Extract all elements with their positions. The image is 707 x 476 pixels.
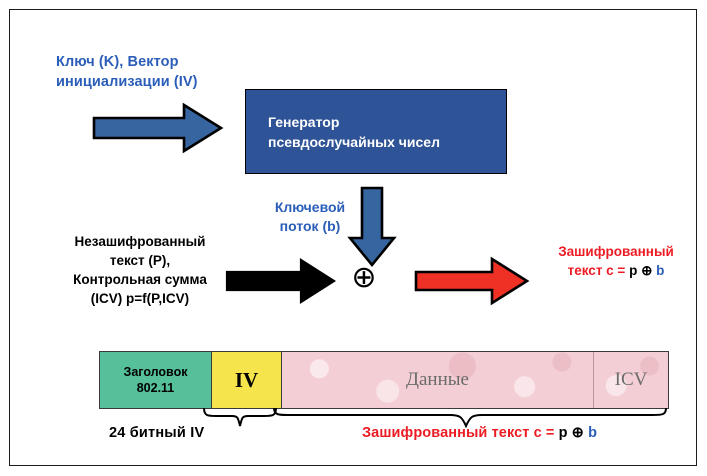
ciphertext-bottom-p: p ⊕ xyxy=(559,425,588,441)
right-arrow-icon xyxy=(92,102,224,154)
packet-field-header-line1: Заголовок xyxy=(124,364,188,380)
ciphertext-bottom-prefix: Зашифрованный текст с = xyxy=(362,425,559,441)
right-arrow-icon xyxy=(225,257,337,305)
iv-bits-label: 24 битный IV xyxy=(109,425,204,441)
plaintext-label-line2: текст (P), xyxy=(50,251,230,270)
right-arrow-icon xyxy=(414,255,530,307)
ciphertext-label-bottom: Зашифрованный текст с = p ⊕ b xyxy=(362,425,597,441)
ciphertext-label-right: Зашифрованный текст с = p ⊕ b xyxy=(528,242,704,280)
ciphertext-label-right-line2: текст с = p ⊕ b xyxy=(528,261,704,280)
packet-field-header-line2: 802.11 xyxy=(124,380,188,396)
plaintext-label-line4: (ICV) p=f(P,ICV) xyxy=(50,289,230,308)
ciphertext-right-p: p ⊕ xyxy=(629,263,656,278)
ciphertext-label-right-line1: Зашифрованный xyxy=(528,242,704,261)
plaintext-label-line3: Контрольная сумма xyxy=(50,270,230,289)
prng-label: Генератор псевдослучайных чисел xyxy=(268,112,440,152)
xor-operator: ⊕ xyxy=(347,262,381,296)
diagram-canvas: Ключ (K), Вектор инициализации (IV) Гене… xyxy=(0,0,707,476)
xor-symbol: ⊕ xyxy=(347,262,381,296)
packet-frame: Заголовок 802.11 IV Данные ICV xyxy=(99,351,669,409)
packet-field-icv: ICV xyxy=(594,352,668,408)
diagram-frame: Ключ (K), Вектор инициализации (IV) Гене… xyxy=(9,9,697,466)
plaintext-label: Незашифрованный текст (P), Контрольная с… xyxy=(50,232,230,308)
ciphertext-right-b: b xyxy=(656,263,664,278)
key-iv-label: Ключ (K), Вектор инициализации (IV) xyxy=(56,52,286,92)
packet-field-data: Данные xyxy=(282,352,594,408)
packet-field-header: Заголовок 802.11 xyxy=(100,352,212,408)
packet-field-iv: IV xyxy=(212,352,282,408)
ciphertext-bottom-b: b xyxy=(588,425,597,441)
down-arrow-icon xyxy=(346,186,398,268)
prng-label-line2: псевдослучайных чисел xyxy=(268,132,440,152)
prng-box: Генератор псевдослучайных чисел xyxy=(245,89,507,174)
prng-label-line1: Генератор xyxy=(268,112,440,132)
ciphertext-right-prefix: текст с = xyxy=(568,263,629,278)
curly-brace-icon xyxy=(202,406,278,433)
key-iv-label-line1: Ключ (K), Вектор xyxy=(56,52,286,72)
plaintext-label-line1: Незашифрованный xyxy=(50,232,230,251)
